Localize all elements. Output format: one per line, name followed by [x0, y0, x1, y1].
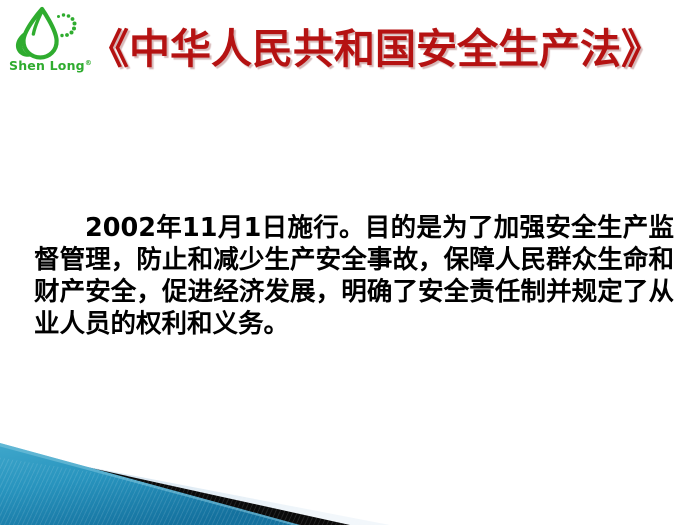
- logo-wordmark-text: Shen Long: [9, 58, 85, 73]
- slide-title: 《中华人民共和国安全生产法》: [88, 26, 648, 73]
- droplet-leaf-icon: [8, 6, 82, 60]
- slide-canvas: Shen Long® 《中华人民共和国安全生产法》 2002年11月1日施行。目…: [0, 0, 700, 525]
- bottom-decoration: [0, 420, 700, 525]
- shen-long-logo: Shen Long®: [8, 6, 82, 82]
- slide-body-paragraph: 2002年11月1日施行。目的是为了加强安全生产监督管理，防止和减少生产安全事故…: [34, 212, 674, 340]
- logo-wordmark: Shen Long®: [9, 58, 83, 73]
- decoration-texture: [0, 420, 700, 525]
